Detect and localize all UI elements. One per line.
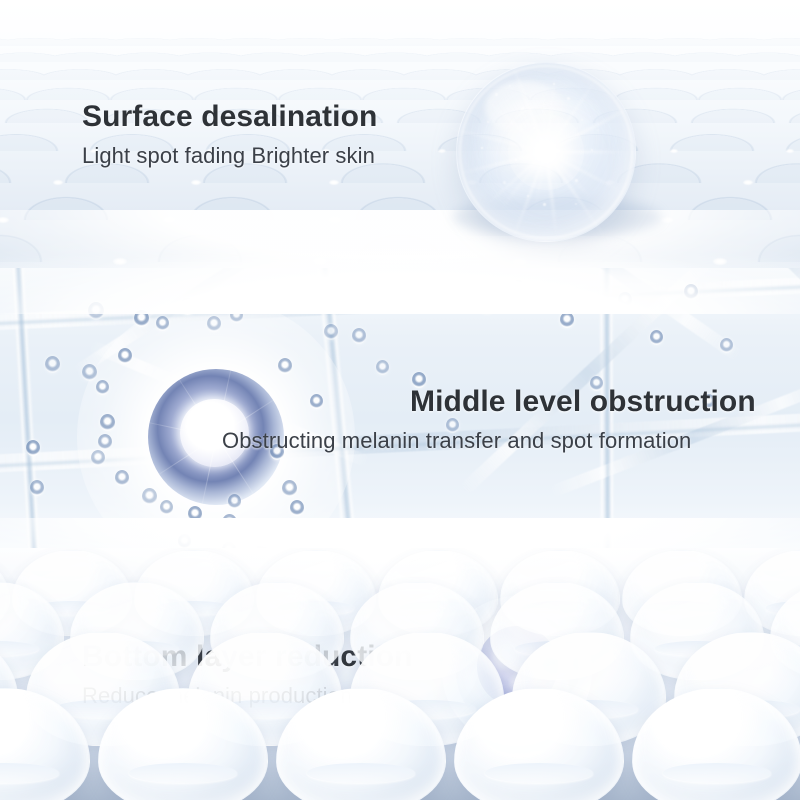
melanin-particle-ring (312, 526, 325, 541)
melanin-particle-ring (178, 534, 191, 549)
cell-top-sheen (696, 642, 787, 671)
cell-top-sheen (152, 558, 223, 580)
cell-top-sheen (30, 558, 101, 580)
scale-row-arc (0, 34, 800, 46)
melanin-particle-ring (88, 302, 104, 320)
cell-top-sheen (89, 591, 168, 616)
melanin-particle-ring (115, 470, 129, 486)
melanin-particle-ring (720, 338, 733, 353)
scale-row-arc (0, 64, 800, 80)
melanin-particle-ring (364, 280, 378, 296)
bubble-sparkle (515, 159, 517, 161)
cell-top-sheen (372, 642, 463, 671)
cell-highlight (129, 763, 237, 783)
cell-top-sheen (210, 642, 301, 671)
bubble-sparkle (521, 107, 524, 110)
cell-top-sheen (123, 699, 224, 731)
melanin-particle-ring (91, 450, 105, 466)
cell-highlight (0, 641, 39, 656)
scale-highlight-dot (53, 180, 63, 185)
cell-highlight (485, 763, 593, 783)
melanin-particle-ring (180, 298, 195, 315)
water-droplet-sphere-icon (456, 62, 636, 242)
cell-top-sheen (301, 699, 402, 731)
melanin-particle-ring (188, 506, 202, 522)
cell-top-sheen (396, 558, 467, 580)
cell-top-sheen (479, 699, 580, 731)
melanin-particle-ring (134, 310, 149, 327)
surface-heading: Surface desalination (82, 100, 377, 134)
melanin-particle-ring (142, 488, 157, 505)
scale-highlight-dot (329, 180, 339, 185)
melanin-particle-ring (96, 380, 109, 395)
melanin-particle-ring (278, 358, 292, 374)
melanin-particle-ring (560, 312, 574, 328)
bottom-layer-panel (0, 548, 800, 800)
middle-heading: Middle level obstruction (410, 385, 756, 419)
melanin-particle-ring (118, 348, 132, 364)
surface-text-block: Surface desalination Light spot fading B… (82, 100, 377, 169)
cell-top-sheen (762, 558, 800, 580)
melanin-particle-ring (290, 500, 304, 516)
cell-top-sheen (0, 699, 45, 731)
melanin-particle-ring (684, 284, 698, 300)
cell-top-sheen (229, 591, 308, 616)
cell-highlight (0, 763, 59, 783)
scale-row-arc (0, 82, 800, 100)
cell-top-sheen (274, 558, 345, 580)
cell-top-sheen (0, 591, 29, 616)
cell-top-sheen (509, 591, 588, 616)
scale-highlight-dot (786, 149, 794, 153)
skin-layer-infographic: Surface desalination Light spot fading B… (0, 0, 800, 800)
scale-row-arc (0, 48, 800, 62)
melanin-particle-ring (324, 324, 338, 340)
melanin-particle-ring (45, 356, 60, 373)
melanin-particle-ring (230, 308, 243, 323)
bubble-sparkle (553, 83, 555, 85)
cell-top-sheen (518, 558, 589, 580)
melanin-particle-ring (222, 514, 237, 531)
cell-highlight (307, 763, 415, 783)
cell-top-sheen (534, 642, 625, 671)
bubble-sparkle (543, 203, 546, 206)
melanin-particle-ring (392, 286, 405, 301)
cell-highlight (663, 763, 771, 783)
bubble-sparkle (527, 195, 529, 197)
melanin-particle-ring (30, 480, 44, 496)
melanin-particle-ring (228, 494, 241, 509)
cell-top-sheen (369, 591, 448, 616)
cell-top-sheen (657, 699, 758, 731)
melanin-particle-ring (207, 316, 221, 332)
melanin-particle-ring (282, 480, 297, 497)
melanin-particle-ring (275, 292, 289, 308)
melanin-particle-ring (26, 440, 40, 456)
bubble-sparkle (581, 119, 583, 121)
bubble-sparkle (503, 181, 506, 184)
melanin-particle-ring (618, 292, 632, 308)
surface-subtitle: Light spot fading Brighter skin (82, 143, 377, 169)
melanin-particle-ring (480, 298, 494, 314)
middle-text-block: Middle level obstruction Obstructing mel… (410, 385, 756, 454)
scale-highlight-dot (191, 180, 201, 185)
melanin-particle-ring (352, 328, 366, 344)
bubble-sparkle (597, 129, 599, 131)
bubble-sparkle (481, 147, 483, 149)
melanin-particle-ring (650, 330, 663, 345)
scale-highlight-dot (670, 149, 678, 153)
scale-highlight-dot (438, 149, 446, 153)
sphere-core-glow (508, 114, 584, 190)
bubble-sparkle (591, 149, 593, 151)
scale-highlight-dot (743, 180, 753, 185)
bubble-sparkle (575, 179, 578, 182)
bubble-sparkle (509, 85, 511, 87)
cell-top-sheen (649, 591, 728, 616)
bubble-sparkle (567, 97, 570, 100)
melanin-particle-ring (100, 414, 115, 431)
melanin-particle-ring (98, 434, 112, 450)
melanin-particle-ring (310, 394, 323, 409)
cell-top-sheen (48, 642, 139, 671)
melanin-particle-ring (82, 364, 97, 381)
melanin-particle-ring (156, 316, 169, 331)
melanin-particle-ring (376, 360, 389, 375)
bubble-sparkle (495, 93, 498, 96)
cell-top-sheen (640, 558, 711, 580)
melanin-particle-ring (512, 280, 525, 295)
melanin-particle-ring (380, 528, 393, 543)
bubble-sparkle (487, 121, 489, 123)
bubble-sparkle (575, 203, 577, 205)
middle-subtitle: Obstructing melanin transfer and spot fo… (222, 428, 756, 454)
bubble-sparkle (533, 127, 535, 129)
melanin-particle-ring (160, 500, 173, 515)
